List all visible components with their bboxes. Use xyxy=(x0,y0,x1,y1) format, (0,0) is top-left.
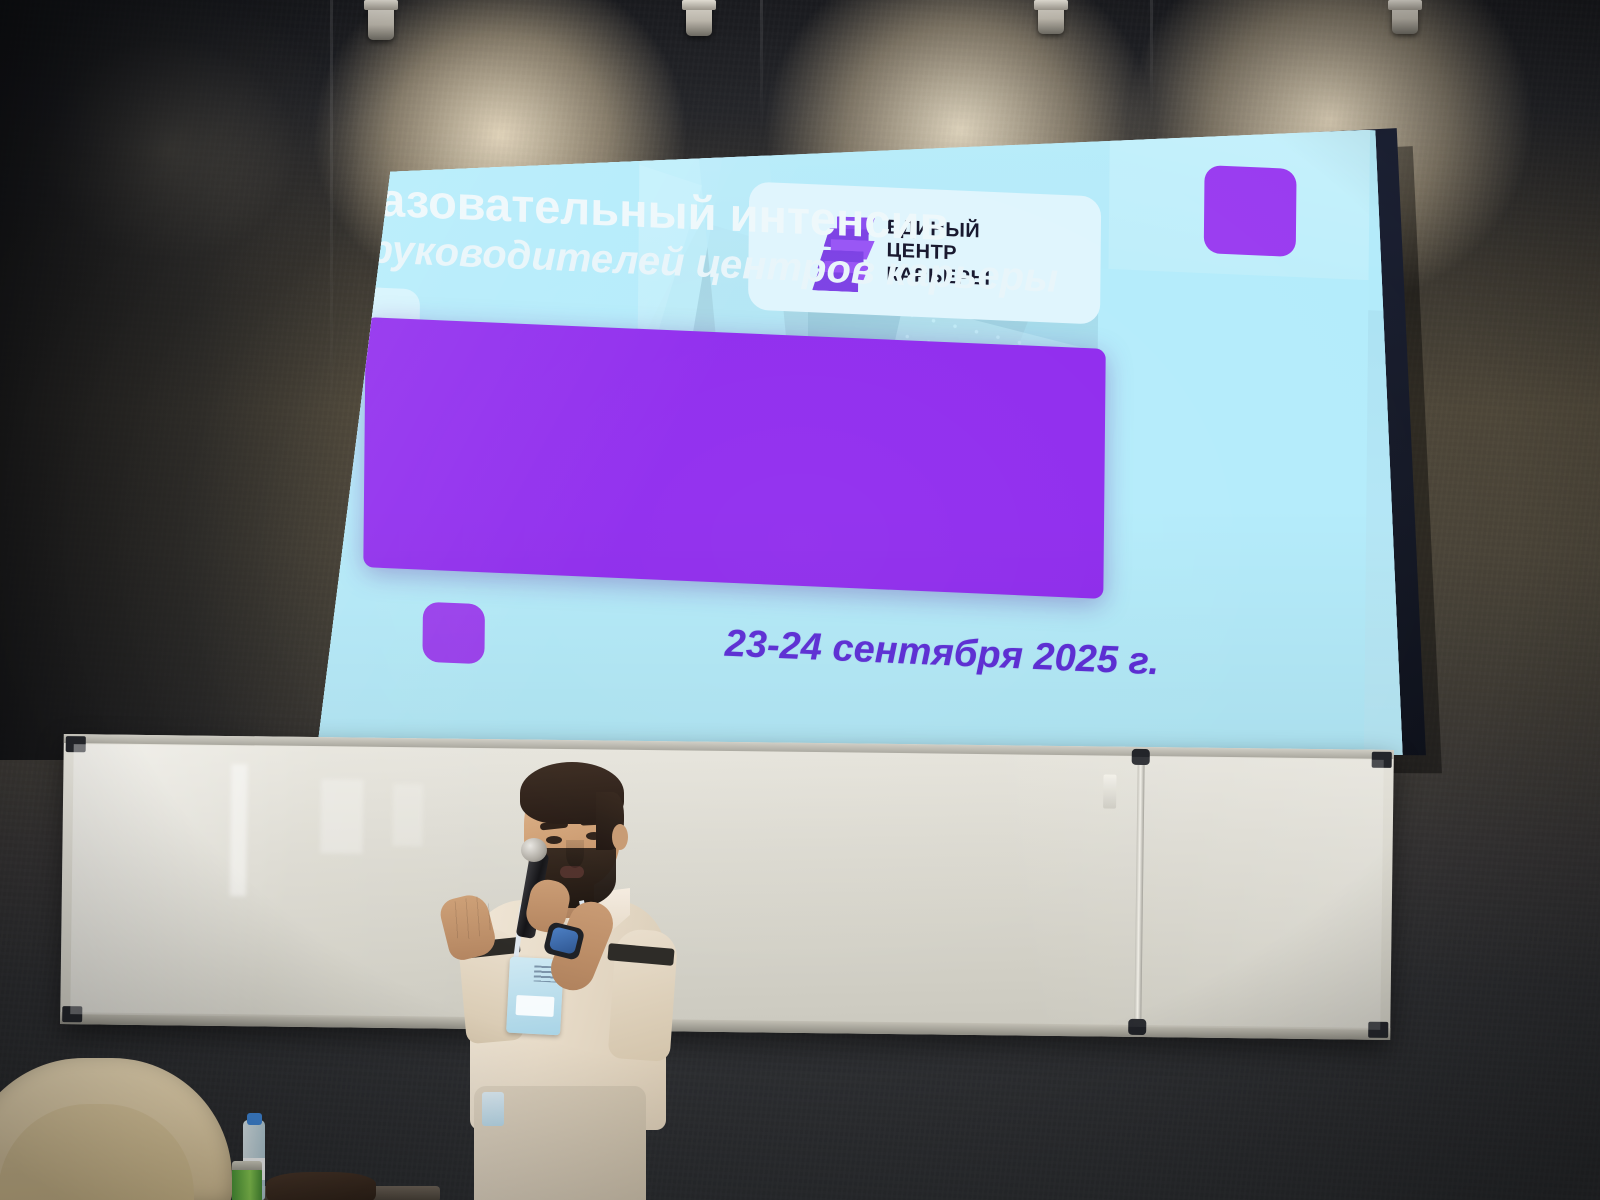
microphone-head-icon xyxy=(521,838,547,862)
presenter-ear xyxy=(612,824,628,850)
presenter xyxy=(0,0,1600,1200)
presentation-photo-scene: ЕДИНЫЙ ЦЕНТР КАРЬЕРЫ Образовательный инт… xyxy=(0,0,1600,1200)
presenter-badge-name-strip xyxy=(516,995,555,1017)
presenter-mouth xyxy=(560,866,584,878)
presenter-pocket-badge xyxy=(482,1092,504,1126)
presenter-nose xyxy=(566,840,584,868)
presenter-eye-left xyxy=(546,836,562,844)
